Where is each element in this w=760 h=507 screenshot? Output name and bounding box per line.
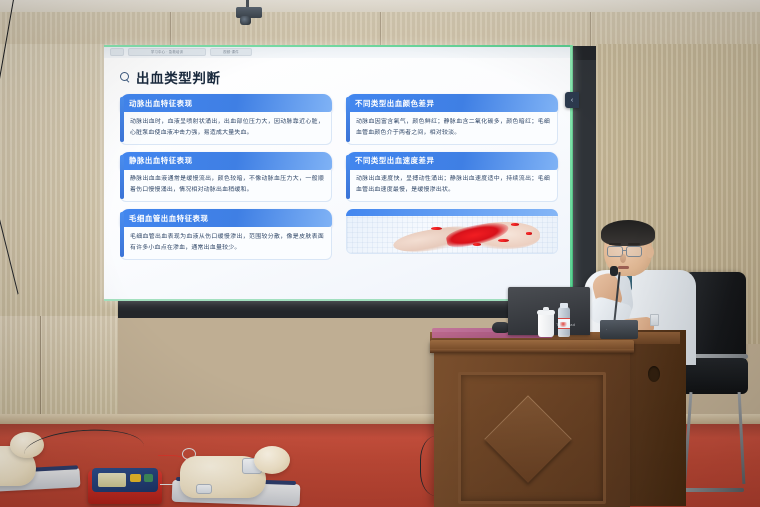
chrome-tab[interactable]: 学习中心 · 急救培训 [128, 48, 206, 56]
slide-title-row: 出血类型判断 [120, 67, 558, 87]
slide-cards-grid: 动脉出血特征表现 动脉出血时，血液呈喷射状涌出，出血部位压力大，因动脉靠近心脏，… [120, 94, 558, 260]
podium-cable-grommet [648, 366, 660, 382]
aed-power-button[interactable] [144, 474, 153, 482]
aed-display [98, 473, 126, 487]
card-heading: 不同类型出血颜色差异 [346, 94, 558, 112]
podium-top-edge [430, 349, 634, 353]
screen-glow-bottom [104, 299, 572, 301]
card-accent-bar [346, 97, 350, 142]
info-card: 毛细血管出血特征表现 毛细血管出血表现为血液从伤口缓慢渗出，范围较分散，像是皮肤… [120, 209, 332, 260]
mouth [618, 266, 629, 269]
card-accent-bar [120, 212, 124, 257]
card-body-text: 动脉出血速度快，呈搏动性涌出；静脉出血速度适中，持续流出；毛细血管出血速度最慢，… [346, 170, 558, 202]
bottle-cap [560, 303, 568, 308]
card-body-text: 静脉出血血液通常是缓慢流出，颜色较暗，不像动脉血压力大，一般顺着伤口慢慢涌出，情… [120, 170, 332, 202]
card-body-text: 动脉血因富含氧气，颜色鲜红；静脉血含二氧化碳多，颜色暗红；毛细血管血颜色介于两者… [346, 112, 558, 144]
card-accent-bar [120, 155, 124, 200]
panel-divider [40, 316, 41, 426]
nose [620, 254, 626, 263]
ceramic-mug [538, 313, 554, 337]
card-accent-bar [346, 155, 350, 200]
lecture-room-photo: 学习中心 · 急救培训 视频·课件 出血类型判断 动脉出血特征表现 动脉出血时，… [0, 0, 760, 507]
chair-base-rail [684, 488, 744, 492]
screen-glow-top [104, 45, 572, 47]
info-card: 不同类型出血颜色差异 动脉血因富含氧气，颜色鲜红；静脉血含二氧化碳多，颜色暗红；… [346, 94, 558, 145]
eyebrow [628, 243, 640, 245]
manikin-head [254, 446, 290, 474]
card-accent-bar [120, 97, 124, 142]
projector-lens [240, 16, 251, 25]
info-card: 不同类型出血速度差异 动脉出血速度快，呈搏动性涌出；静脉出血速度适中，持续流出；… [346, 152, 558, 203]
card-heading: 不同类型出血速度差异 [346, 152, 558, 170]
card-heading: 毛细血管出血特征表现 [120, 209, 332, 227]
bleeding-hand-photo [346, 209, 558, 260]
photo-card-accent-bar [346, 209, 558, 216]
microphone-brand-label: · [606, 328, 607, 332]
blood-drop [498, 239, 509, 242]
card-body-text: 动脉出血时，血液呈喷射状涌出，出血部位压力大，因动脉靠近心脏，心脏泵血使血液冲击… [120, 112, 332, 144]
glasses-bridge [622, 250, 627, 251]
mug-knob [543, 307, 549, 311]
info-card: 动脉出血特征表现 动脉出血时，血液呈喷射状涌出，出血部位压力大，因动脉靠近心脏，… [120, 94, 332, 145]
aed-electrode-pad [196, 484, 212, 494]
magnifier-icon [120, 72, 130, 82]
id-badge [650, 314, 659, 326]
slide-content: 出血类型判断 动脉出血特征表现 动脉出血时，血液呈喷射状涌出，出血部位压力大，因… [104, 58, 572, 301]
screen-glow-right [570, 45, 573, 301]
card-body-text: 毛细血管出血表现为血液从伤口缓慢渗出，范围较分散，像是皮肤表面有许多小血点在渗血… [120, 227, 332, 259]
glasses-icon [626, 246, 642, 257]
eyebrow [609, 243, 621, 245]
chrome-tab[interactable] [110, 48, 124, 56]
projection-screen: 学习中心 · 急救培训 视频·课件 出血类型判断 动脉出血特征表现 动脉出血时，… [104, 45, 572, 301]
chevron-left-icon[interactable]: ‹ [565, 92, 579, 108]
card-heading: 静脉出血特征表现 [120, 152, 332, 170]
bottle-label [558, 318, 570, 329]
ear [646, 246, 654, 258]
page-title: 出血类型判断 [136, 67, 221, 87]
podium-side-panel [626, 330, 686, 506]
card-heading: 动脉出血特征表现 [120, 94, 332, 112]
photo-frame [346, 216, 558, 254]
microphone-head [610, 266, 618, 276]
aed-shock-button[interactable] [130, 474, 141, 482]
blood-drop [526, 232, 532, 234]
info-card: 静脉出血特征表现 静脉出血血液通常是缓慢流出，颜色较暗，不像动脉血压力大，一般顺… [120, 152, 332, 203]
chrome-tab[interactable]: 视频·课件 [210, 48, 252, 56]
